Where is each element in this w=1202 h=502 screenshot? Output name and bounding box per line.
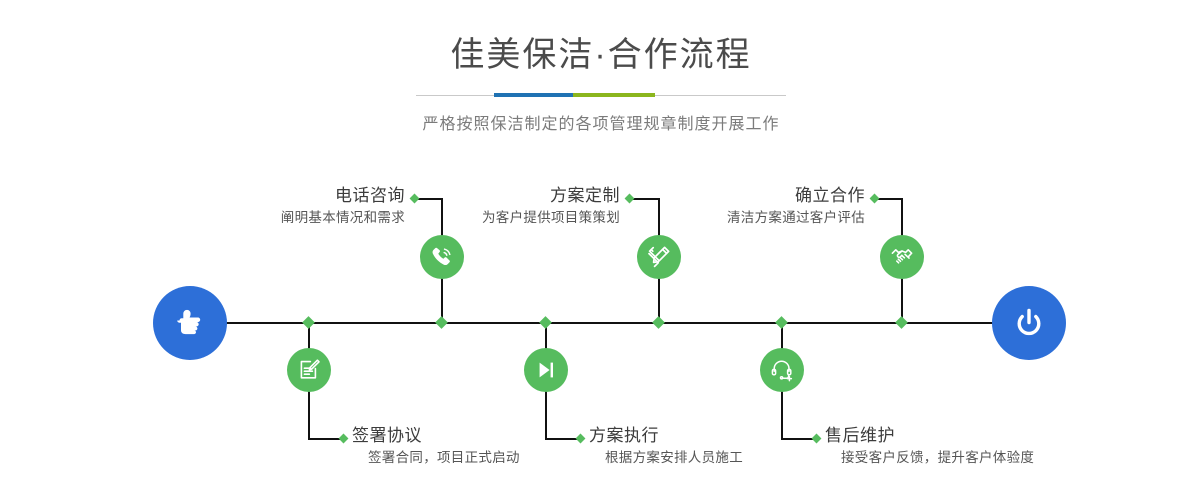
page-subtitle: 严格按照保洁制定的各项管理规章制度开展工作: [0, 96, 1202, 134]
divider-blue-segment: [494, 93, 573, 97]
handshake-icon: [889, 244, 915, 270]
page-title: 佳美保洁·合作流程: [0, 0, 1202, 77]
customer-support-icon: [769, 357, 795, 383]
step-axis-marker-4: [539, 316, 552, 329]
step-desc-5: 清洁方案通过客户评估: [575, 208, 865, 228]
step-title-6: 售后维护: [825, 425, 1034, 448]
step-desc-6: 接受客户反馈，提升客户体验度: [825, 448, 1034, 468]
step-axis-marker-1: [435, 316, 448, 329]
power-icon: [1009, 303, 1049, 343]
step-title-2: 签署协议: [352, 425, 520, 448]
step-label-2: 签署协议 签署合同，项目正式启动: [352, 425, 520, 468]
step-label-marker-6: [812, 434, 822, 444]
step-label-4: 方案执行 根据方案安排人员施工: [589, 425, 743, 468]
pencil-ruler-icon: [646, 244, 672, 270]
step-desc-4: 根据方案安排人员施工: [589, 448, 743, 468]
step-title-5: 确立合作: [575, 185, 865, 208]
step-icon-node-1: [420, 235, 464, 279]
process-timeline: 电话咨询 阐明基本情况和需求 方案定制 为客户提供项目策策划: [0, 150, 1202, 502]
timeline-axis: [155, 322, 1055, 324]
step-desc-2: 签署合同，项目正式启动: [352, 448, 520, 468]
step-icon-node-6: [760, 348, 804, 392]
step-label-marker-5: [870, 194, 880, 204]
step-icon-node-3: [637, 235, 681, 279]
play-forward-icon: [533, 357, 559, 383]
timeline-end-node: [992, 286, 1066, 360]
timeline-start-node: [153, 286, 227, 360]
step-icon-node-5: [880, 235, 924, 279]
step-axis-marker-5: [895, 316, 908, 329]
step-icon-node-2: [287, 348, 331, 392]
step-title-4: 方案执行: [589, 425, 743, 448]
step-axis-marker-3: [652, 316, 665, 329]
step-elbow-1: [416, 198, 443, 200]
phone-call-icon: [429, 244, 455, 270]
step-icon-node-4: [524, 348, 568, 392]
step-axis-marker-2: [302, 316, 315, 329]
cooperation-process-infographic: 佳美保洁·合作流程 严格按照保洁制定的各项管理规章制度开展工作: [0, 0, 1202, 502]
title-divider: [416, 95, 786, 96]
step-elbow-5: [876, 198, 903, 200]
step-label-marker-2: [339, 434, 349, 444]
header: 佳美保洁·合作流程 严格按照保洁制定的各项管理规章制度开展工作: [0, 0, 1202, 134]
document-sign-icon: [296, 357, 322, 383]
step-label-5: 确立合作 清洁方案通过客户评估: [575, 185, 865, 228]
step-elbow-3: [631, 198, 660, 200]
step-label-marker-4: [576, 434, 586, 444]
step-label-6: 售后维护 接受客户反馈，提升客户体验度: [825, 425, 1034, 468]
divider-green-segment: [573, 93, 655, 97]
pointing-hand-icon: [170, 303, 210, 343]
step-axis-marker-6: [775, 316, 788, 329]
